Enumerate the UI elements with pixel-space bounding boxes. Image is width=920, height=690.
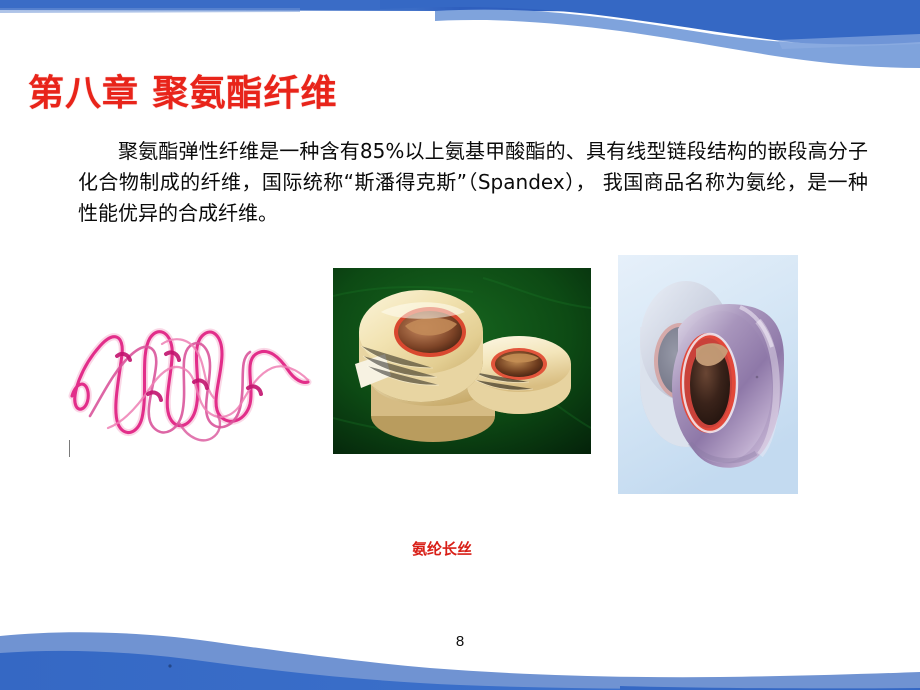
figure-pink-tangled-fiber — [62, 296, 312, 456]
page-title: 第八章 聚氨酯纤维 — [28, 64, 338, 116]
page-number: 8 — [0, 633, 920, 650]
body-paragraph: 聚氨酯弹性纤维是一种含有85%以上氨基甲酸酯的、具有线型链段结构的嵌段高分子化合… — [78, 136, 868, 229]
stray-mark — [69, 440, 70, 457]
figure-caption: 氨纶长丝 — [412, 538, 472, 559]
presentation-slide: 第八章 聚氨酯纤维 聚氨酯弹性纤维是一种含有85%以上氨基甲酸酯的、具有线型链段… — [0, 0, 920, 690]
figure-cream-yarn-spools — [333, 268, 591, 454]
figure-purple-yarn-spools — [618, 255, 798, 494]
